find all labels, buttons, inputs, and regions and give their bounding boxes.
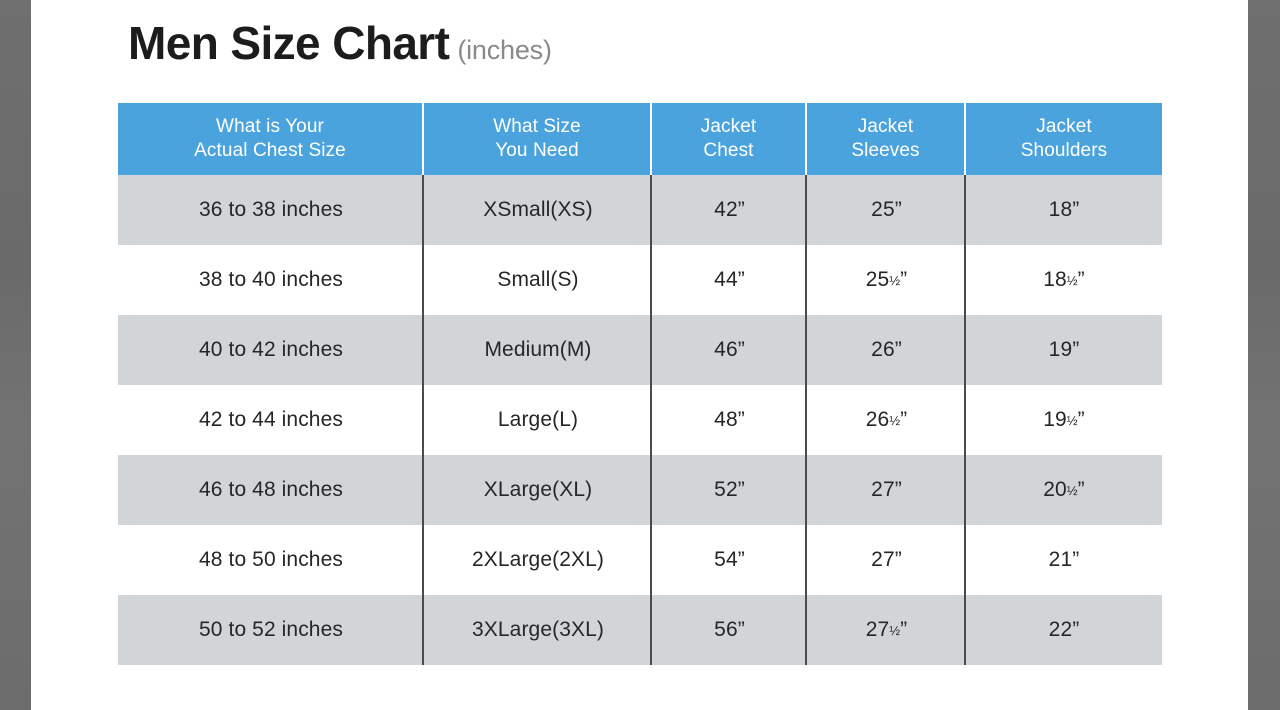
half-fraction: ½ [889,273,900,288]
half-fraction: ½ [889,413,900,428]
table-cell-chest-range: 36 to 38 inches [118,175,424,245]
table-body: 36 to 38 inchesXSmall(XS)42”25”18”38 to … [118,175,1162,665]
table-cell-jacket-shoulders: 18” [966,175,1162,245]
page-title-unit: (inches) [457,35,551,65]
half-fraction: ½ [1067,483,1078,498]
page-title: Men Size Chart(inches) [128,20,552,66]
table-cell-jacket-sleeves: 26” [807,315,966,385]
table-cell-size: Small(S) [424,245,652,315]
table-cell-jacket-chest: 56” [652,595,807,665]
table-cell-size: XLarge(XL) [424,455,652,525]
half-fraction: ½ [1067,273,1078,288]
table-header-row: What is Your Actual Chest Size What Size… [118,103,1162,175]
table-cell-chest-range: 40 to 42 inches [118,315,424,385]
table-row: 46 to 48 inchesXLarge(XL)52”27”20½” [118,455,1162,525]
table-cell-jacket-shoulders: 19” [966,315,1162,385]
column-header-line2: Shoulders [1021,139,1107,163]
page-title-main: Men Size Chart [128,17,449,69]
table-row: 42 to 44 inchesLarge(L)48”26½”19½” [118,385,1162,455]
column-header-line1: Jacket [701,115,757,139]
table-cell-chest-range: 38 to 40 inches [118,245,424,315]
column-header-line2: Sleeves [851,139,919,163]
table-cell-size: 2XLarge(2XL) [424,525,652,595]
table-cell-size: XSmall(XS) [424,175,652,245]
table-cell-jacket-shoulders: 18½” [966,245,1162,315]
column-header-line2: Chest [701,139,757,163]
letterbox-band-left [0,0,31,710]
half-fraction: ½ [889,623,900,638]
table-row: 40 to 42 inchesMedium(M)46”26”19” [118,315,1162,385]
column-header-actual-chest-size: What is Your Actual Chest Size [118,103,424,175]
table-row: 38 to 40 inchesSmall(S)44”25½”18½” [118,245,1162,315]
table-cell-jacket-chest: 46” [652,315,807,385]
table-cell-jacket-sleeves: 27½” [807,595,966,665]
table-cell-jacket-shoulders: 20½” [966,455,1162,525]
column-header-line1: What Size [493,115,581,139]
table-cell-jacket-chest: 52” [652,455,807,525]
table-cell-size: 3XLarge(3XL) [424,595,652,665]
table-cell-jacket-sleeves: 27” [807,525,966,595]
column-header-jacket-sleeves: Jacket Sleeves [807,103,966,175]
table-cell-jacket-sleeves: 26½” [807,385,966,455]
column-header-jacket-shoulders: Jacket Shoulders [966,103,1162,175]
column-header-line1: Jacket [1021,115,1107,139]
column-header-line1: What is Your [194,115,346,139]
column-header-line2: Actual Chest Size [194,139,346,163]
table-row: 36 to 38 inchesXSmall(XS)42”25”18” [118,175,1162,245]
table-cell-chest-range: 46 to 48 inches [118,455,424,525]
table-cell-jacket-shoulders: 22” [966,595,1162,665]
column-header-line2: You Need [493,139,581,163]
table-row: 48 to 50 inches2XLarge(2XL)54”27”21” [118,525,1162,595]
half-fraction: ½ [1067,413,1078,428]
table-cell-jacket-sleeves: 25½” [807,245,966,315]
table-cell-jacket-chest: 48” [652,385,807,455]
table-cell-chest-range: 50 to 52 inches [118,595,424,665]
table-cell-chest-range: 42 to 44 inches [118,385,424,455]
table-cell-jacket-shoulders: 19½” [966,385,1162,455]
letterbox-band-right [1248,0,1280,710]
table-cell-size: Large(L) [424,385,652,455]
table-cell-jacket-chest: 54” [652,525,807,595]
screenshot-stage: Men Size Chart(inches) What is Your Actu… [0,0,1280,710]
column-header-line1: Jacket [851,115,919,139]
table-cell-jacket-shoulders: 21” [966,525,1162,595]
table-cell-jacket-chest: 44” [652,245,807,315]
table-cell-jacket-sleeves: 27” [807,455,966,525]
column-header-size-you-need: What Size You Need [424,103,652,175]
table-cell-jacket-sleeves: 25” [807,175,966,245]
size-chart-page: Men Size Chart(inches) What is Your Actu… [31,0,1248,710]
table-cell-chest-range: 48 to 50 inches [118,525,424,595]
table-row: 50 to 52 inches3XLarge(3XL)56”27½”22” [118,595,1162,665]
table-cell-jacket-chest: 42” [652,175,807,245]
column-header-jacket-chest: Jacket Chest [652,103,807,175]
table-cell-size: Medium(M) [424,315,652,385]
size-chart-table: What is Your Actual Chest Size What Size… [118,103,1162,665]
